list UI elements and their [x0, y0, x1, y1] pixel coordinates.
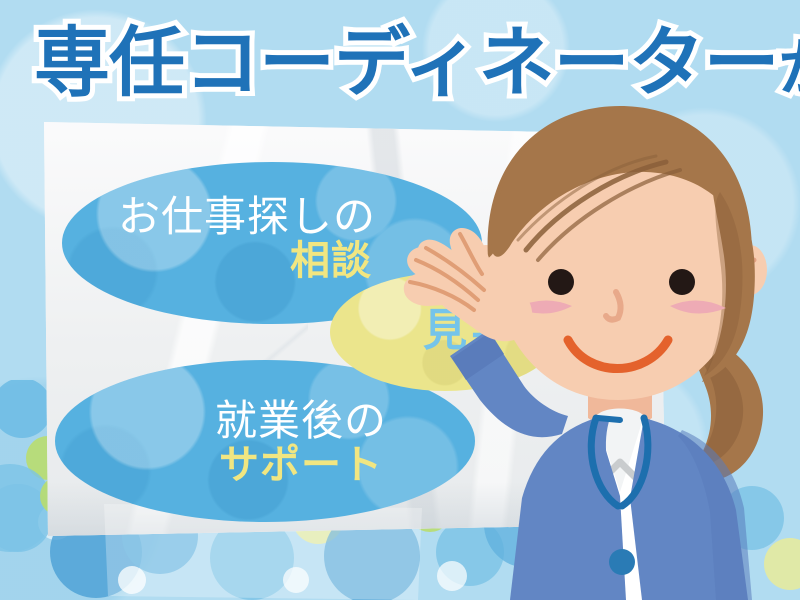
support-line-1: 就業後の: [215, 400, 387, 443]
support-line-2: サポート: [219, 445, 383, 486]
page-headline: 専任コーディネーターが: [34, 18, 774, 110]
eye-right: [669, 269, 695, 295]
headline-suffix: が: [779, 34, 800, 103]
eye-left: [548, 269, 574, 295]
headline-main: 専任コーディネーター: [34, 21, 779, 106]
coordinator-illustration: [430, 100, 800, 600]
decorative-bubble: [0, 380, 52, 438]
poster: お仕事探しの 相談 就業後の サポート 見学: [0, 0, 800, 600]
consultation-line-1: お仕事探しの: [118, 196, 376, 239]
